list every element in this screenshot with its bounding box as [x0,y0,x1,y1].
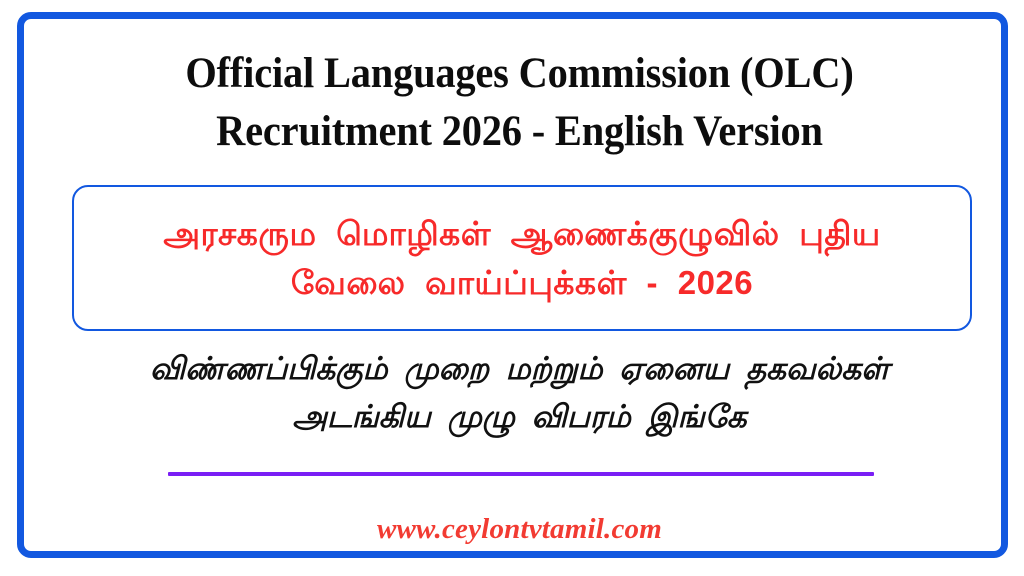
subtitle-line-1: விண்ணப்பிக்கும் முறை மற்றும் ஏனைய தகவல்க… [24,345,1015,393]
subtitle-line-2: அடங்கிய முழு விபரம் இங்கே [24,393,1015,441]
highlight-box-text: அரசகரும மொழிகள் ஆணைக்குழுவில் புதிய வேலை… [74,209,970,307]
highlight-line-2: வேலை வாய்ப்புக்கள் - 2026 [90,258,954,307]
title-line-2: Recruitment 2026 - English Version [54,103,986,161]
divider-rule [168,472,874,476]
banner-content: Official Languages Commission (OLC) Recr… [24,19,1015,565]
website-url[interactable]: www.ceylontvtamil.com [24,511,1015,547]
highlight-line-1: அரசகரும மொழிகள் ஆணைக்குழுவில் புதிய [90,209,954,258]
outer-blue-frame: Official Languages Commission (OLC) Recr… [17,12,1008,558]
promo-banner: Official Languages Commission (OLC) Recr… [0,0,1024,576]
title-line-1: Official Languages Commission (OLC) [54,45,986,103]
page-title: Official Languages Commission (OLC) Recr… [24,45,1015,161]
highlight-box: அரசகரும மொழிகள் ஆணைக்குழுவில் புதிய வேலை… [72,185,972,331]
subtitle-text: விண்ணப்பிக்கும் முறை மற்றும் ஏனைய தகவல்க… [24,345,1015,441]
